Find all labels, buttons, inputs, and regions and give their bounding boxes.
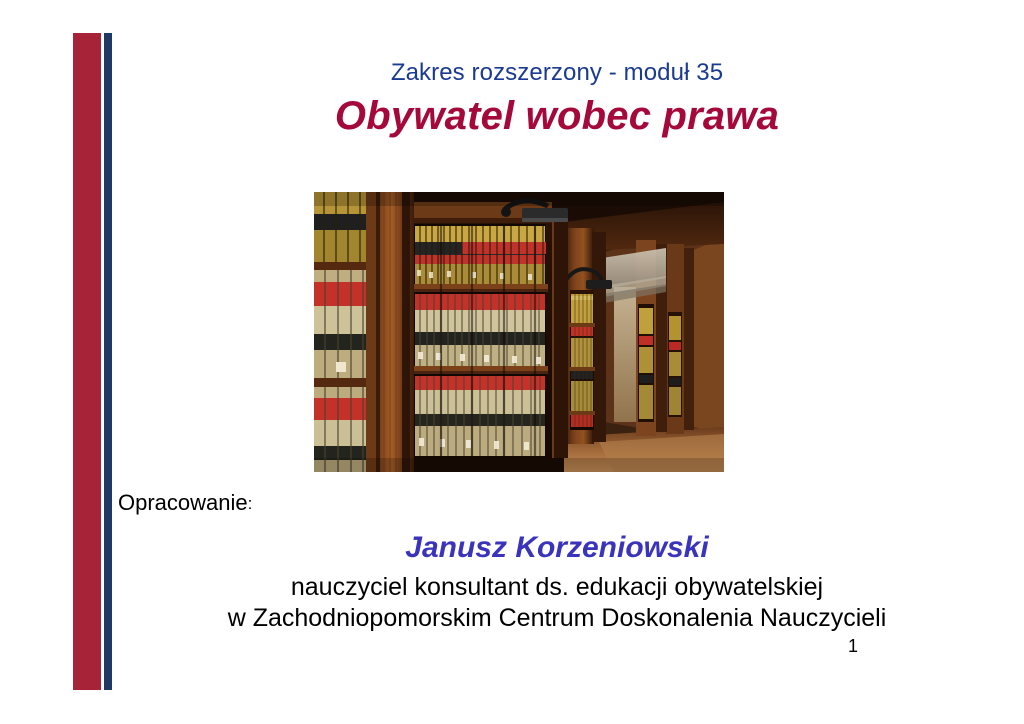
page-number: 1 [848,635,858,657]
slide-kicker: Zakres rozszerzony - moduł 35 [112,58,1002,88]
author-role-line-2: w Zachodniopomorskim Centrum Doskonaleni… [112,603,1002,634]
presentation-slide: Zakres rozszerzony - moduł 35 Obywatel w… [0,0,1024,724]
title-block: Zakres rozszerzony - moduł 35 Obywatel w… [112,58,1002,142]
author-name: Janusz Korzeniowski [112,529,1002,567]
law-library-image [314,192,724,472]
decorative-bar-blue [104,33,112,690]
decorative-bar-red [73,33,101,690]
author-role: nauczyciel konsultant ds. edukacji obywa… [112,572,1002,634]
credit-label: Opracowanie: [118,489,252,518]
slide-title: Obywatel wobec prawa [112,90,1002,142]
credit-label-colon: : [248,494,253,513]
author-role-line-1: nauczyciel konsultant ds. edukacji obywa… [112,572,1002,603]
credit-label-text: Opracowanie [118,490,248,515]
law-library-illustration [314,192,724,472]
